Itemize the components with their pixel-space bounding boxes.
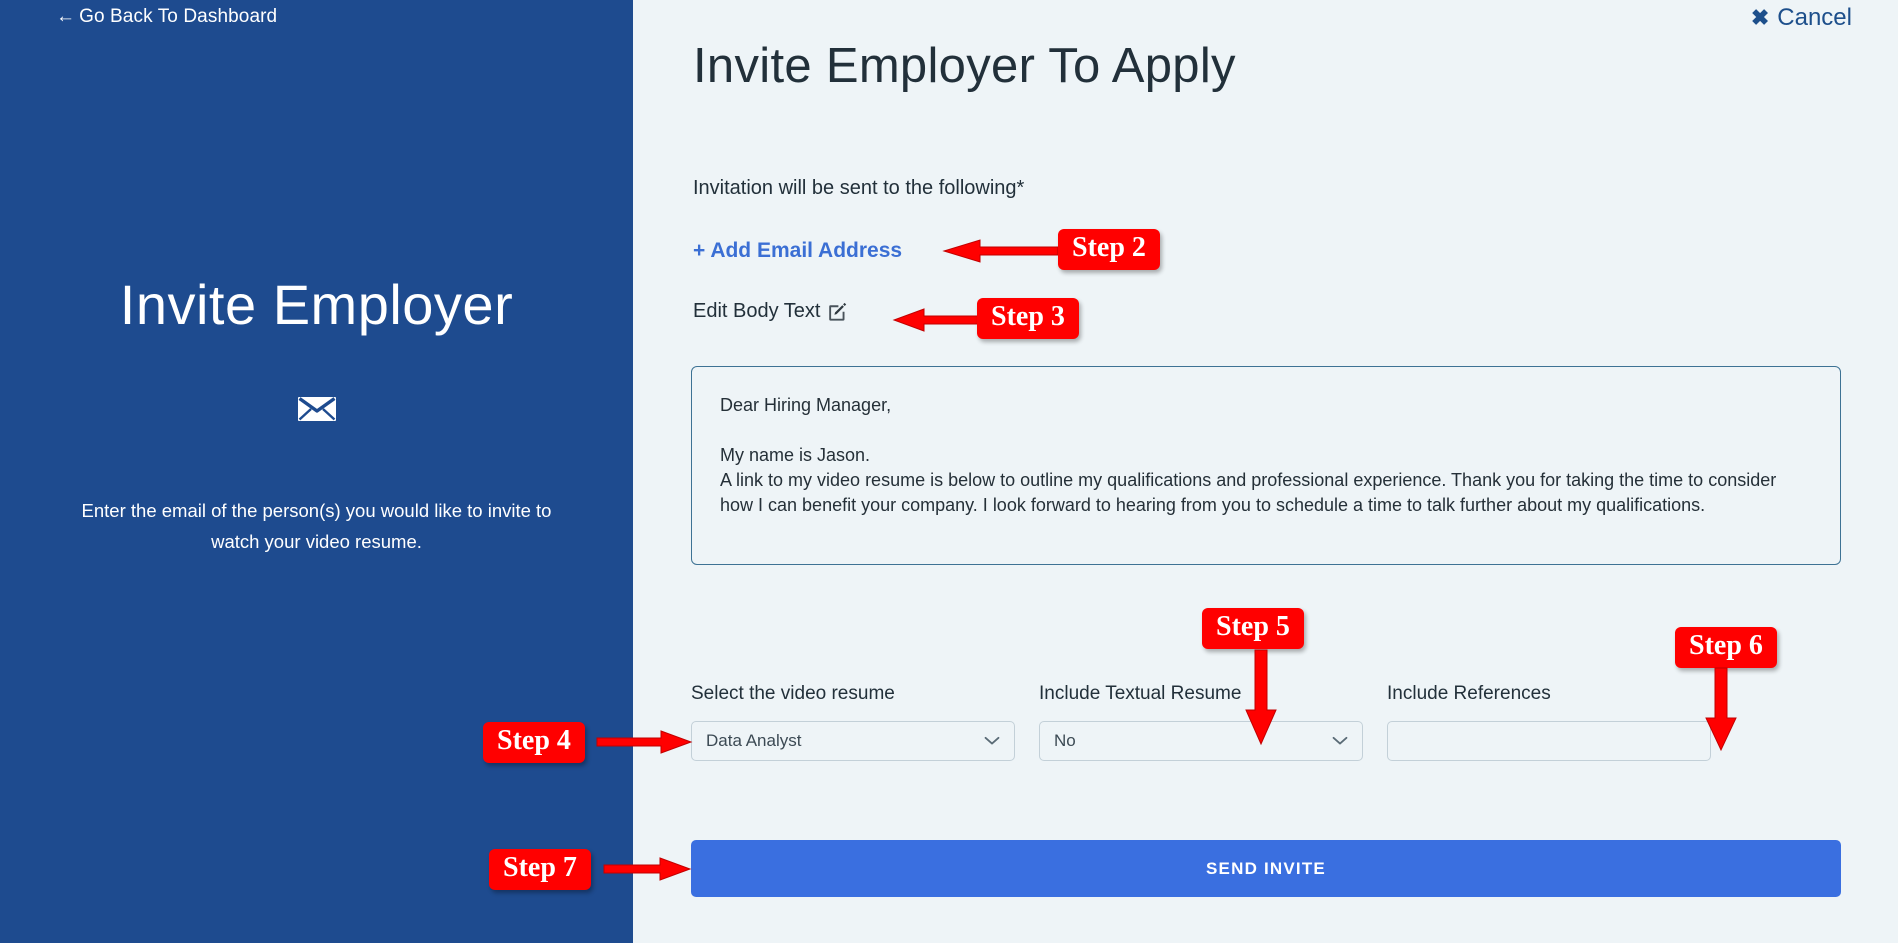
step-5-badge: Step 5	[1202, 608, 1304, 649]
include-textual-resume-label: Include Textual Resume	[1039, 683, 1363, 705]
page-title: Invite Employer To Apply	[693, 38, 1236, 94]
step-5-arrow	[1243, 650, 1279, 748]
invitation-note: Invitation will be sent to the following…	[693, 177, 1024, 200]
step-7-arrow	[602, 856, 694, 882]
include-references-label: Include References	[1387, 683, 1711, 705]
field-include-textual-resume: Include Textual Resume No	[1039, 683, 1363, 761]
include-textual-resume-value: No	[1054, 731, 1076, 751]
main-content: ✖ Cancel Invite Employer To Apply Invita…	[633, 0, 1898, 943]
chevron-down-icon	[984, 736, 1000, 746]
step-6-arrow	[1703, 668, 1739, 754]
edit-body-text-label: Edit Body Text	[693, 300, 820, 323]
body-line-1: My name is Jason.	[720, 443, 1812, 468]
body-line-2: A link to my video resume is below to ou…	[720, 468, 1812, 518]
sidebar-description: Enter the email of the person(s) you wou…	[76, 495, 557, 557]
field-select-video-resume: Select the video resume Data Analyst	[691, 683, 1015, 761]
sidebar: ←Go Back To Dashboard Invite Employer En…	[0, 0, 633, 943]
pencil-edit-icon[interactable]	[828, 302, 847, 321]
select-video-resume-dropdown[interactable]: Data Analyst	[691, 721, 1015, 761]
step-3-arrow	[890, 307, 990, 333]
body-salutation: Dear Hiring Manager,	[720, 393, 1812, 418]
edit-body-text-row: Edit Body Text	[693, 300, 847, 323]
include-textual-resume-dropdown[interactable]: No	[1039, 721, 1363, 761]
invite-employer-page: ←Go Back To Dashboard Invite Employer En…	[0, 0, 1898, 943]
close-icon: ✖	[1751, 7, 1769, 29]
chevron-down-icon	[1332, 736, 1348, 746]
step-3-badge: Step 3	[977, 298, 1079, 339]
back-link-label: Go Back To Dashboard	[79, 6, 277, 27]
cancel-button[interactable]: ✖ Cancel	[1751, 4, 1852, 32]
select-video-resume-label: Select the video resume	[691, 683, 1015, 705]
back-arrow-icon: ←	[56, 6, 75, 27]
step-2-arrow	[940, 238, 1060, 264]
step-4-badge: Step 4	[483, 722, 585, 763]
select-video-resume-value: Data Analyst	[706, 731, 801, 751]
body-text-editor[interactable]: Dear Hiring Manager, My name is Jason. A…	[691, 366, 1841, 565]
body-spacer	[720, 418, 1812, 443]
field-include-references: Include References	[1387, 683, 1711, 761]
include-references-input[interactable]	[1387, 721, 1711, 761]
add-email-address-link[interactable]: + Add Email Address	[693, 239, 902, 263]
step-6-badge: Step 6	[1675, 627, 1777, 668]
step-2-badge: Step 2	[1058, 229, 1160, 270]
send-invite-button[interactable]: SEND INVITE	[691, 840, 1841, 897]
go-back-to-dashboard-link[interactable]: ←Go Back To Dashboard	[56, 6, 277, 28]
step-4-arrow	[595, 729, 695, 755]
cancel-label: Cancel	[1777, 4, 1852, 32]
sidebar-title: Invite Employer	[0, 272, 633, 337]
step-7-badge: Step 7	[489, 849, 591, 890]
envelope-icon	[0, 394, 633, 429]
